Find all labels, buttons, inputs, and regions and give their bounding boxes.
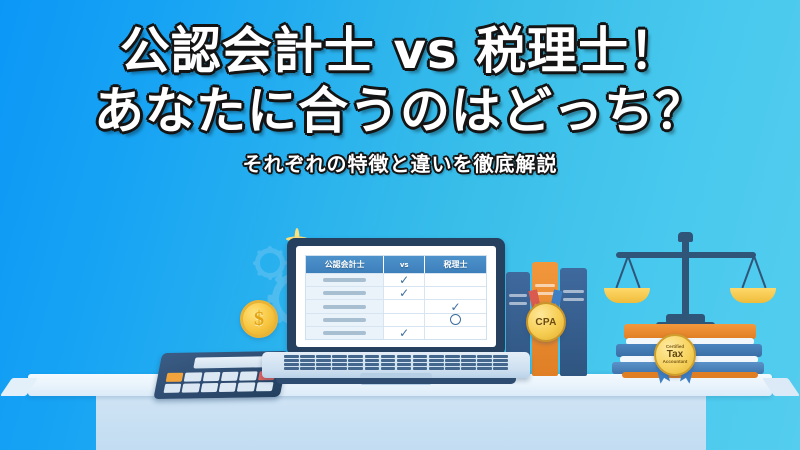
column-header-tax: 税理士: [425, 256, 486, 273]
calculator-key: [200, 383, 218, 392]
keyboard-key: [300, 367, 315, 370]
column-header-vs: vs: [383, 256, 425, 273]
keyboard-key: [348, 363, 363, 366]
keyboard-key: [429, 359, 444, 362]
calculator-key: [202, 372, 220, 381]
calculator-key: [239, 371, 257, 380]
comparison-table-header-row: 公認会計士 vs 税理士: [306, 256, 486, 273]
row-right-mark-cell: [425, 274, 486, 286]
keyboard-key: [381, 359, 396, 362]
keyboard-key: [284, 359, 299, 362]
laptop-illustration: 公認会計士 vs 税理士 ✓ ✓: [262, 238, 530, 388]
cpa-badge-label: CPA: [535, 317, 556, 328]
calculator-key: [184, 372, 202, 381]
row-right-mark-cell: ✓: [425, 300, 486, 312]
keyboard-key: [429, 355, 444, 358]
keyboard-key: [461, 355, 476, 358]
keyboard-key: [493, 363, 508, 366]
scale-pan-right: [730, 288, 776, 303]
stacked-book: [624, 324, 756, 339]
headline-block: 公認会計士 vs 税理士！ あなたに合うのはどっち？ それぞれの特徴と違いを徹底…: [0, 24, 800, 177]
laptop-base: [262, 352, 530, 378]
placeholder-bar: [323, 305, 366, 309]
table-row: ✓: [306, 326, 486, 339]
gear-tooth: [253, 261, 259, 265]
table-row: [306, 313, 486, 326]
keyboard-key: [493, 359, 508, 362]
calculator-key: [182, 383, 200, 392]
keyboard-key: [284, 363, 299, 366]
book-stripe: [563, 290, 584, 293]
headline-line-1: 公認会計士 vs 税理士！: [0, 24, 800, 78]
row-label-cell: [306, 274, 383, 286]
keyboard-key: [365, 363, 380, 366]
row-right-mark-cell: [425, 287, 486, 299]
keyboard-key: [332, 359, 347, 362]
keyboard-key: [477, 367, 492, 370]
calculator-key: [166, 373, 184, 382]
placeholder-bar: [323, 291, 366, 295]
keyboard-key: [397, 359, 412, 362]
calculator-keypad: [163, 371, 275, 393]
tax-accountant-illustration: Certified Tax Accountant: [604, 226, 776, 378]
laptop-screen: 公認会計士 vs 税理士 ✓ ✓: [296, 246, 496, 347]
row-left-mark-cell: ✓: [383, 287, 425, 299]
keyboard-key: [477, 359, 492, 362]
placeholder-bar: [323, 318, 366, 322]
keyboard-key: [348, 367, 363, 370]
keyboard-key: [284, 367, 299, 370]
laptop-keyboard: [284, 355, 508, 370]
keyboard-key: [365, 355, 380, 358]
keyboard-key: [365, 367, 380, 370]
keyboard-key: [445, 363, 460, 366]
keyboard-key: [348, 359, 363, 362]
keyboard-key: [300, 355, 315, 358]
row-right-mark-cell: [425, 314, 486, 326]
calculator-key: [219, 383, 237, 392]
keyboard-key: [493, 367, 508, 370]
laptop-lid: 公認会計士 vs 税理士 ✓ ✓: [287, 238, 505, 356]
table-row: ✓: [306, 273, 486, 286]
book-stripe: [563, 298, 584, 301]
row-left-mark-cell: [383, 314, 425, 326]
row-label-cell: [306, 314, 383, 326]
column-header-cpa: 公認会計士: [306, 256, 383, 273]
book-stripe: [535, 284, 555, 287]
placeholder-bar: [323, 331, 366, 335]
comparison-table: 公認会計士 vs 税理士 ✓ ✓: [305, 255, 487, 340]
keyboard-key: [381, 363, 396, 366]
keyboard-key: [397, 355, 412, 358]
calculator-key: [237, 382, 255, 391]
keyboard-key: [445, 359, 460, 362]
laptop-front-edge: [276, 378, 516, 384]
headline-line-2: あなたに合うのはどっち？: [0, 84, 800, 138]
thumbnail-canvas: 公認会計士 vs 税理士！ あなたに合うのはどっち？ それぞれの特徴と違いを徹底…: [0, 0, 800, 450]
keyboard-key: [300, 363, 315, 366]
keyboard-key: [461, 359, 476, 362]
keyboard-key: [316, 363, 331, 366]
headline-subtitle: それぞれの特徴と違いを徹底解説: [0, 148, 800, 177]
keyboard-key: [316, 359, 331, 362]
keyboard-key: [413, 363, 428, 366]
keyboard-key: [397, 363, 412, 366]
cpa-badge-icon: CPA: [526, 302, 566, 342]
placeholder-bar: [323, 278, 366, 282]
keyboard-key: [413, 367, 428, 370]
row-label-cell: [306, 300, 383, 312]
scale-string: [741, 256, 754, 288]
row-left-mark-cell: [383, 300, 425, 312]
keyboard-key: [461, 367, 476, 370]
table-row: ✓: [306, 299, 486, 312]
desk-front-panel: [96, 396, 706, 450]
row-label-cell: [306, 287, 383, 299]
keyboard-key: [429, 363, 444, 366]
keyboard-key: [413, 359, 428, 362]
keyboard-key: [316, 367, 331, 370]
keyboard-key: [365, 359, 380, 362]
calculator-key: [163, 384, 181, 393]
row-right-mark-cell: [425, 327, 486, 339]
keyboard-key: [348, 355, 363, 358]
keyboard-key: [461, 363, 476, 366]
keyboard-key: [284, 355, 299, 358]
row-left-mark-cell: ✓: [383, 274, 425, 286]
scale-pan-left: [604, 288, 650, 303]
check-icon: ✓: [399, 274, 409, 286]
keyboard-key: [429, 367, 444, 370]
row-label-cell: [306, 327, 383, 339]
tax-badge-icon: Certified Tax Accountant: [654, 334, 696, 376]
check-icon: ✓: [399, 327, 409, 339]
circle-icon: [450, 314, 461, 325]
keyboard-key: [445, 355, 460, 358]
keyboard-key: [300, 359, 315, 362]
table-row: ✓: [306, 286, 486, 299]
check-icon: ✓: [450, 301, 460, 313]
keyboard-key: [381, 355, 396, 358]
calculator-key: [221, 372, 239, 381]
keyboard-key: [381, 367, 396, 370]
row-left-mark-cell: ✓: [383, 327, 425, 339]
tax-badge-line-3: Accountant: [663, 360, 688, 365]
keyboard-key: [397, 367, 412, 370]
keyboard-key: [445, 367, 460, 370]
keyboard-key: [477, 355, 492, 358]
scale-string: [627, 256, 640, 288]
scale-string: [615, 256, 628, 288]
keyboard-key: [413, 355, 428, 358]
keyboard-key: [332, 367, 347, 370]
keyboard-key: [477, 363, 492, 366]
keyboard-key: [493, 355, 508, 358]
scale-string: [753, 256, 766, 288]
keyboard-key: [332, 355, 347, 358]
keyboard-key: [332, 363, 347, 366]
keyboard-key: [316, 355, 331, 358]
scale-post: [682, 238, 689, 318]
check-icon: ✓: [399, 287, 409, 299]
